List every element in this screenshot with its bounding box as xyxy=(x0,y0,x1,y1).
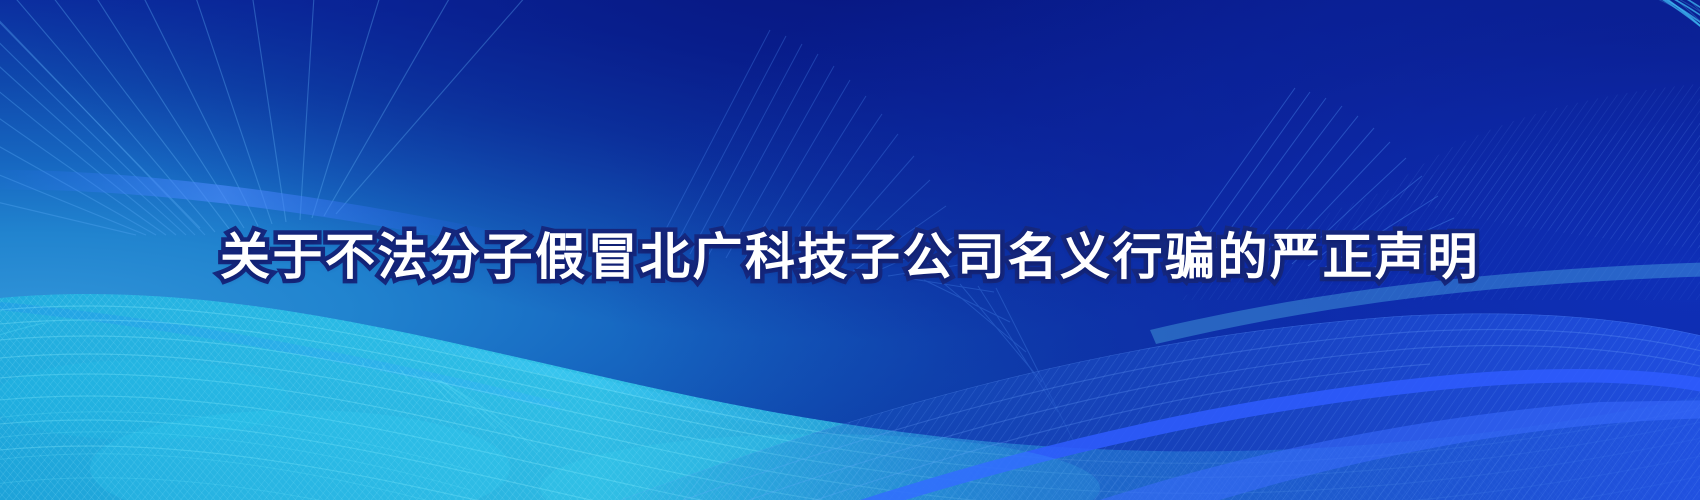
banner-title-wrapper: 关于不法分子假冒北广科技子公司名义行骗的严正声明 xyxy=(0,0,1700,500)
banner-root: 关于不法分子假冒北广科技子公司名义行骗的严正声明 xyxy=(0,0,1700,500)
banner-title: 关于不法分子假冒北广科技子公司名义行骗的严正声明 xyxy=(220,217,1480,289)
